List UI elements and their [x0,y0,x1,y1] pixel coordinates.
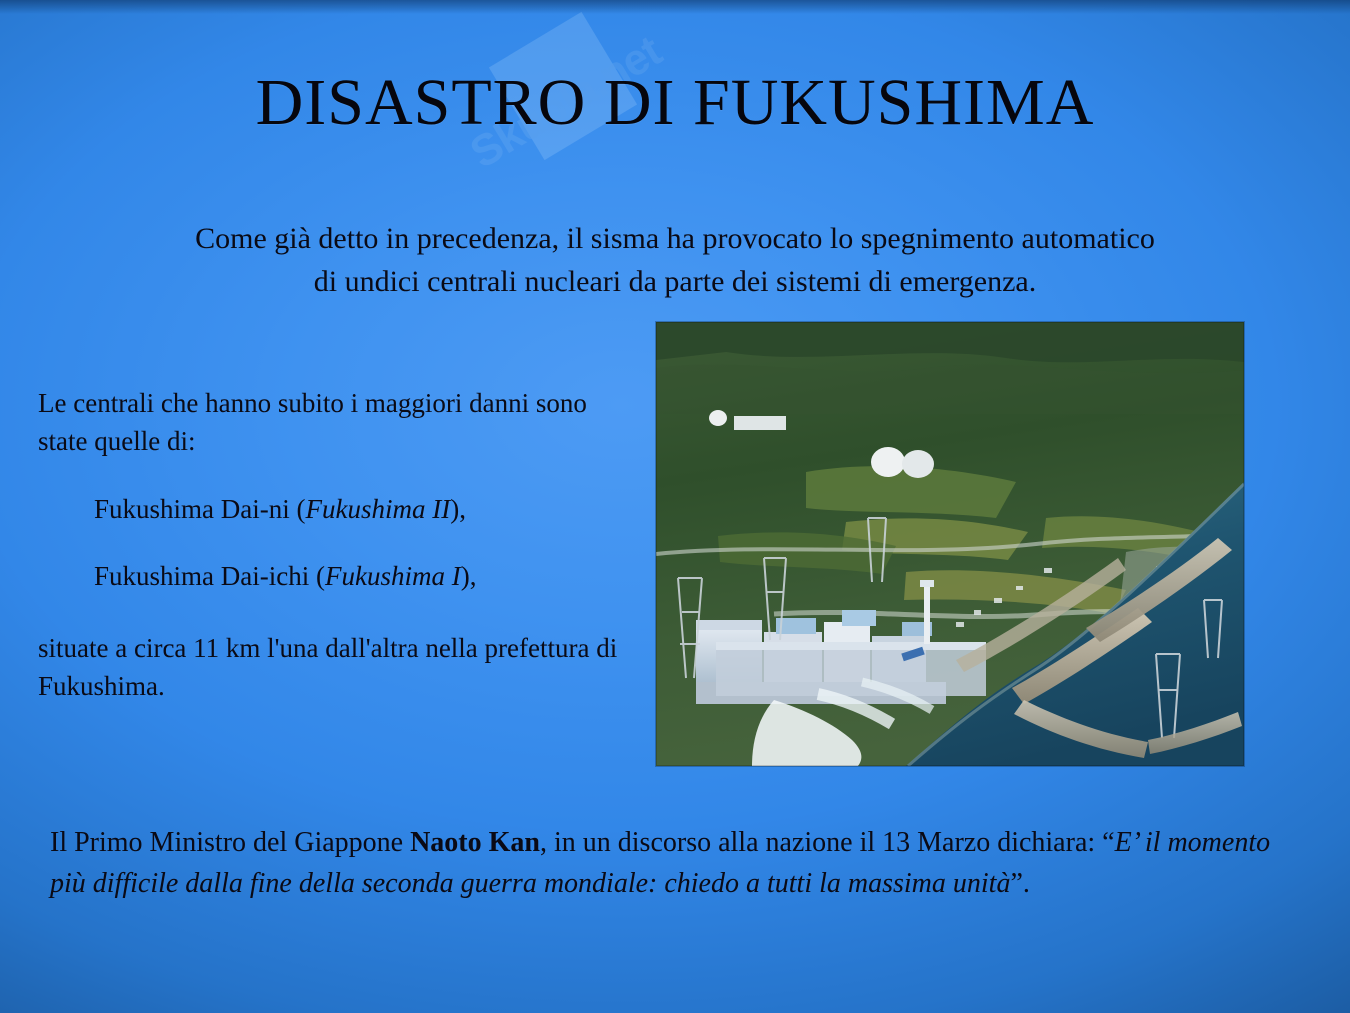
aerial-photo-fukushima [656,322,1244,766]
intro-line-1: Come già detto in precedenza, il sisma h… [40,218,1310,261]
quote-part-2: , in un discorso alla nazione il 13 Marz… [540,827,1115,858]
plant-item-daiichi: Fukushima Dai-ichi (Fukushima I), [94,558,638,596]
presentation-slide: Skuola.net DISASTRO DI FUKUSHIMA Come gi… [0,0,1350,1013]
plant-tail-daini: ), [450,494,466,524]
plant-alt-daiichi: Fukushima I [325,561,461,591]
plant-name-daini: Fukushima Dai-ni ( [94,494,305,524]
quote-paragraph: Il Primo Ministro del Giappone Naoto Kan… [50,822,1310,905]
page-title: DISASTRO DI FUKUSHIMA [0,68,1350,137]
quote-part-1: Il Primo Ministro del Giappone [50,827,410,858]
quote-person-name: Naoto Kan [410,827,540,858]
distance-paragraph: situate a circa 11 km l'una dall'altra n… [38,630,638,706]
left-text-column: Le centrali che hanno subito i maggiori … [38,385,638,706]
lead-paragraph: Le centrali che hanno subito i maggiori … [38,385,638,461]
plant-item-daini: Fukushima Dai-ni (Fukushima II), [94,491,638,529]
intro-line-2: di undici centrali nucleari da parte dei… [40,261,1310,304]
plant-name-daiichi: Fukushima Dai-ichi ( [94,561,325,591]
quote-part-3: ”. [1010,868,1029,899]
plant-tail-daiichi: ), [461,561,477,591]
intro-paragraph: Come già detto in precedenza, il sisma h… [40,218,1310,303]
aerial-photo-illustration [656,322,1244,766]
plant-alt-daini: Fukushima II [305,494,450,524]
